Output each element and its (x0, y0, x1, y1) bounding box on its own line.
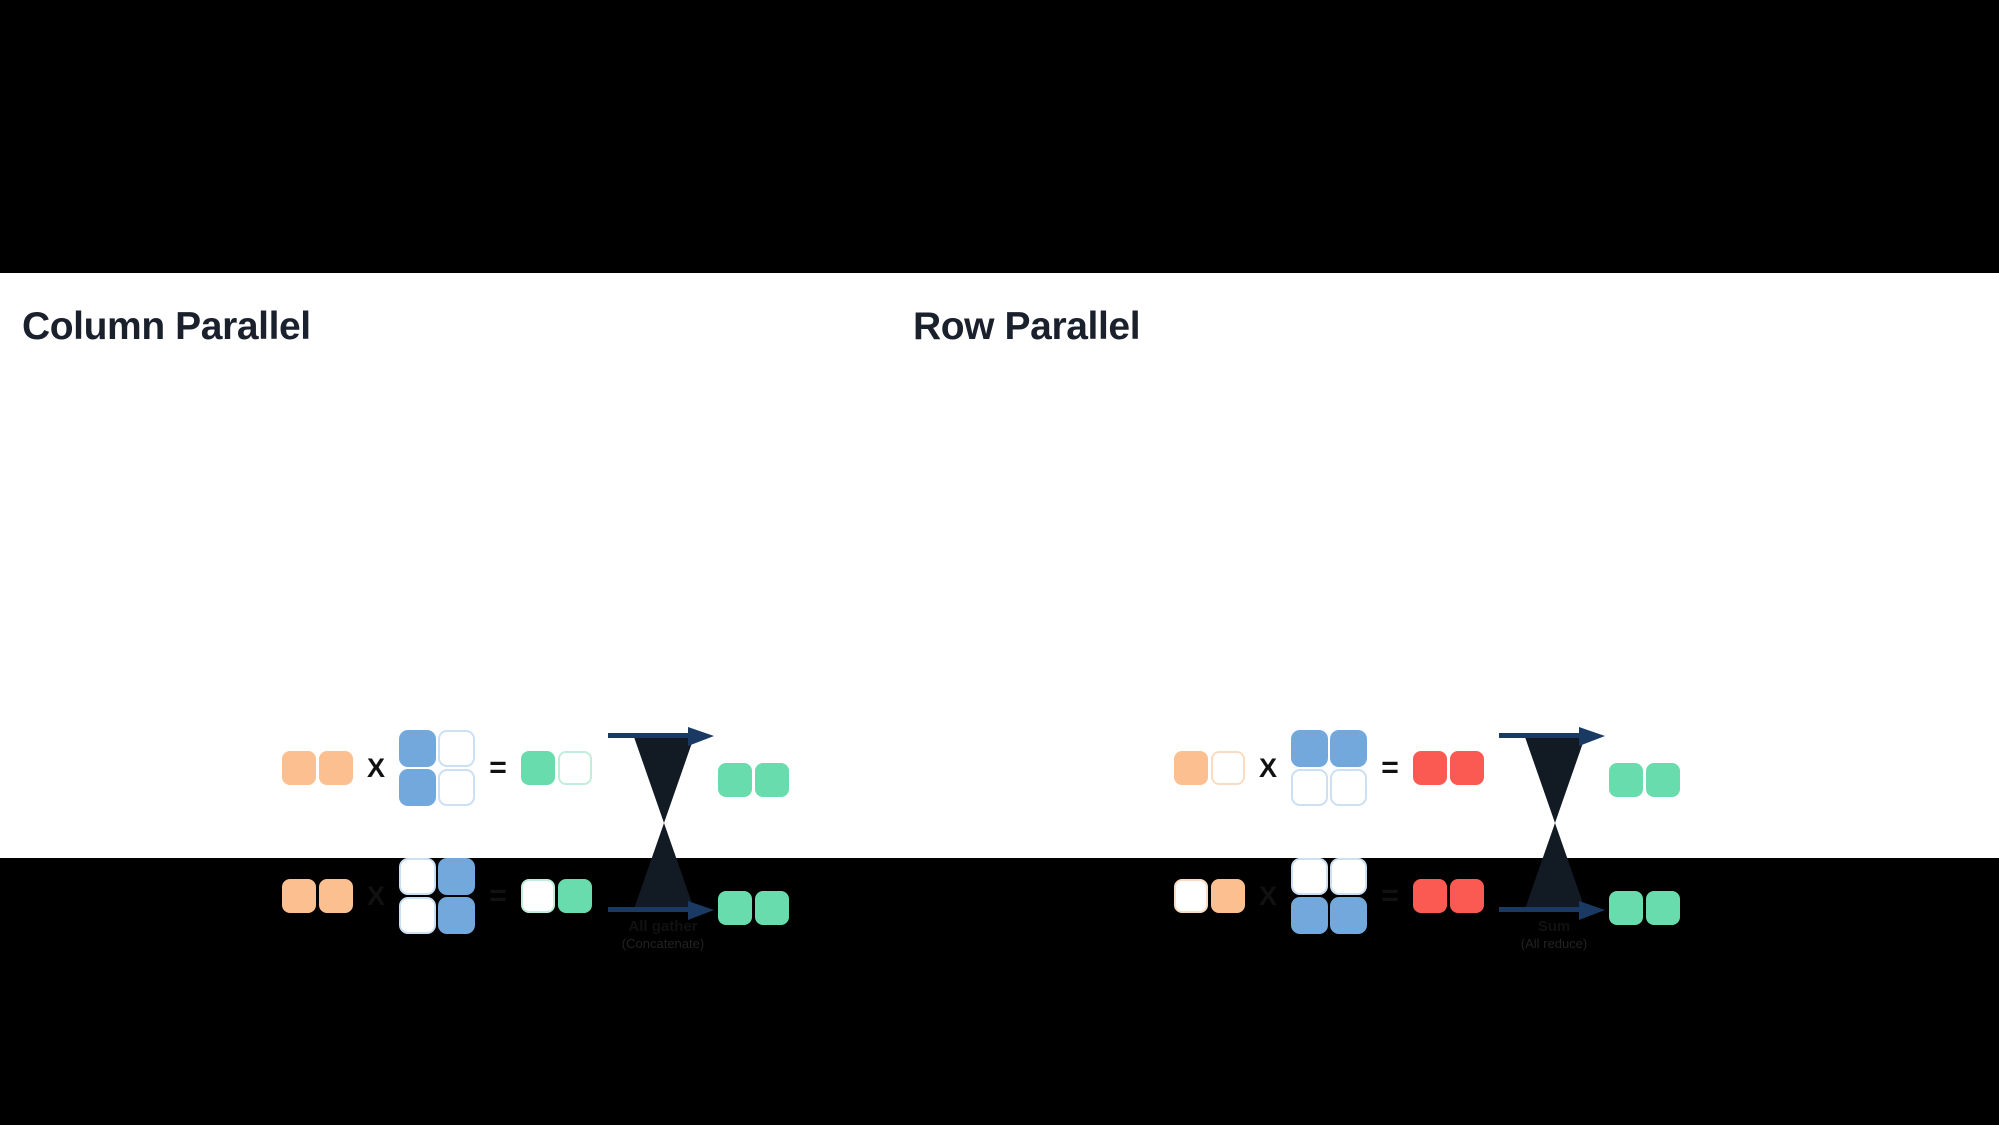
matrix-cell (1330, 858, 1367, 895)
equation-row: X = (1174, 713, 1484, 823)
matrix-cell (755, 763, 789, 797)
weight-matrix (399, 730, 475, 806)
activation-vector (282, 751, 353, 785)
matrix-cell (1646, 763, 1680, 797)
multiply-symbol: X (1245, 755, 1291, 782)
matrix-cell (438, 897, 475, 934)
reduced-output-vector (1609, 891, 1680, 925)
bowtie-allreduce-icon (1499, 723, 1609, 923)
matrix-cell (1211, 751, 1245, 785)
weight-matrix (1291, 858, 1367, 934)
matrix-cell (1291, 858, 1328, 895)
all-reduce-operation: Sum (All reduce) (1499, 723, 1609, 923)
multiply-symbol: X (353, 755, 399, 782)
letterbox-top (0, 0, 1999, 273)
matrix-cell (1174, 879, 1208, 913)
comm-label-main: All gather (608, 918, 718, 935)
reduced-output-vector (1609, 763, 1680, 797)
multiply-symbol: X (1245, 883, 1291, 910)
matrix-cell (558, 879, 592, 913)
comm-label-main: Sum (1499, 918, 1609, 935)
matrix-cell (1330, 769, 1367, 806)
matrix-cell (1450, 751, 1484, 785)
partial-result-vector (521, 751, 592, 785)
matrix-cell (282, 879, 316, 913)
panel-title-row-parallel: Row Parallel (913, 305, 1140, 349)
diagram-canvas: Column Parallel X = (0, 273, 1999, 858)
activation-vector (1174, 879, 1245, 913)
matrix-cell (1609, 891, 1643, 925)
matrix-cell (1211, 879, 1245, 913)
matrix-cell (718, 891, 752, 925)
all-gather-operation: All gather (Concatenate) (608, 723, 718, 923)
matrix-cell (399, 730, 436, 767)
matrix-cell (718, 763, 752, 797)
matrix-cell (1330, 730, 1367, 767)
slide-stage: Column Parallel X = (0, 0, 1999, 1125)
matrix-cell (399, 897, 436, 934)
matrix-cell (521, 751, 555, 785)
panel-column-parallel: Column Parallel X = (0, 273, 890, 858)
matrix-cell (399, 769, 436, 806)
multiply-symbol: X (353, 883, 399, 910)
equals-symbol: = (1367, 753, 1413, 783)
matrix-cell (1413, 879, 1447, 913)
panel-title-column-parallel: Column Parallel (22, 305, 311, 349)
matrix-cell (1413, 751, 1447, 785)
matrix-cell (1291, 769, 1328, 806)
weight-matrix (1291, 730, 1367, 806)
matrix-cell (1330, 897, 1367, 934)
matrix-cell (1646, 891, 1680, 925)
equation-row: X = (1174, 841, 1484, 951)
matrix-cell (558, 751, 592, 785)
matrix-cell (755, 891, 789, 925)
matrix-cell (1174, 751, 1208, 785)
equals-symbol: = (475, 753, 521, 783)
matrix-cell (1450, 879, 1484, 913)
gathered-output-vector (718, 891, 789, 925)
matrix-cell (1291, 730, 1328, 767)
bowtie-allgather-icon (608, 723, 718, 923)
activation-vector (282, 879, 353, 913)
equation-row: X = (282, 841, 592, 951)
comm-label-sub: (Concatenate) (608, 936, 718, 951)
matrix-cell (319, 751, 353, 785)
activation-vector (1174, 751, 1245, 785)
equation-row: X = (282, 713, 592, 823)
matrix-cell (1609, 763, 1643, 797)
weight-matrix (399, 858, 475, 934)
panel-row-parallel: Row Parallel X = (890, 273, 1999, 858)
partial-result-vector (521, 879, 592, 913)
partial-sum-vector (1413, 751, 1484, 785)
matrix-cell (399, 858, 436, 895)
matrix-cell (1291, 897, 1328, 934)
equals-symbol: = (475, 881, 521, 911)
all-reduce-label: Sum (All reduce) (1499, 918, 1609, 951)
matrix-cell (438, 769, 475, 806)
matrix-cell (438, 730, 475, 767)
all-gather-label: All gather (Concatenate) (608, 918, 718, 951)
equals-symbol: = (1367, 881, 1413, 911)
gathered-output-vector (718, 763, 789, 797)
matrix-cell (521, 879, 555, 913)
matrix-cell (438, 858, 475, 895)
partial-sum-vector (1413, 879, 1484, 913)
matrix-cell (282, 751, 316, 785)
comm-label-sub: (All reduce) (1499, 936, 1609, 951)
matrix-cell (319, 879, 353, 913)
